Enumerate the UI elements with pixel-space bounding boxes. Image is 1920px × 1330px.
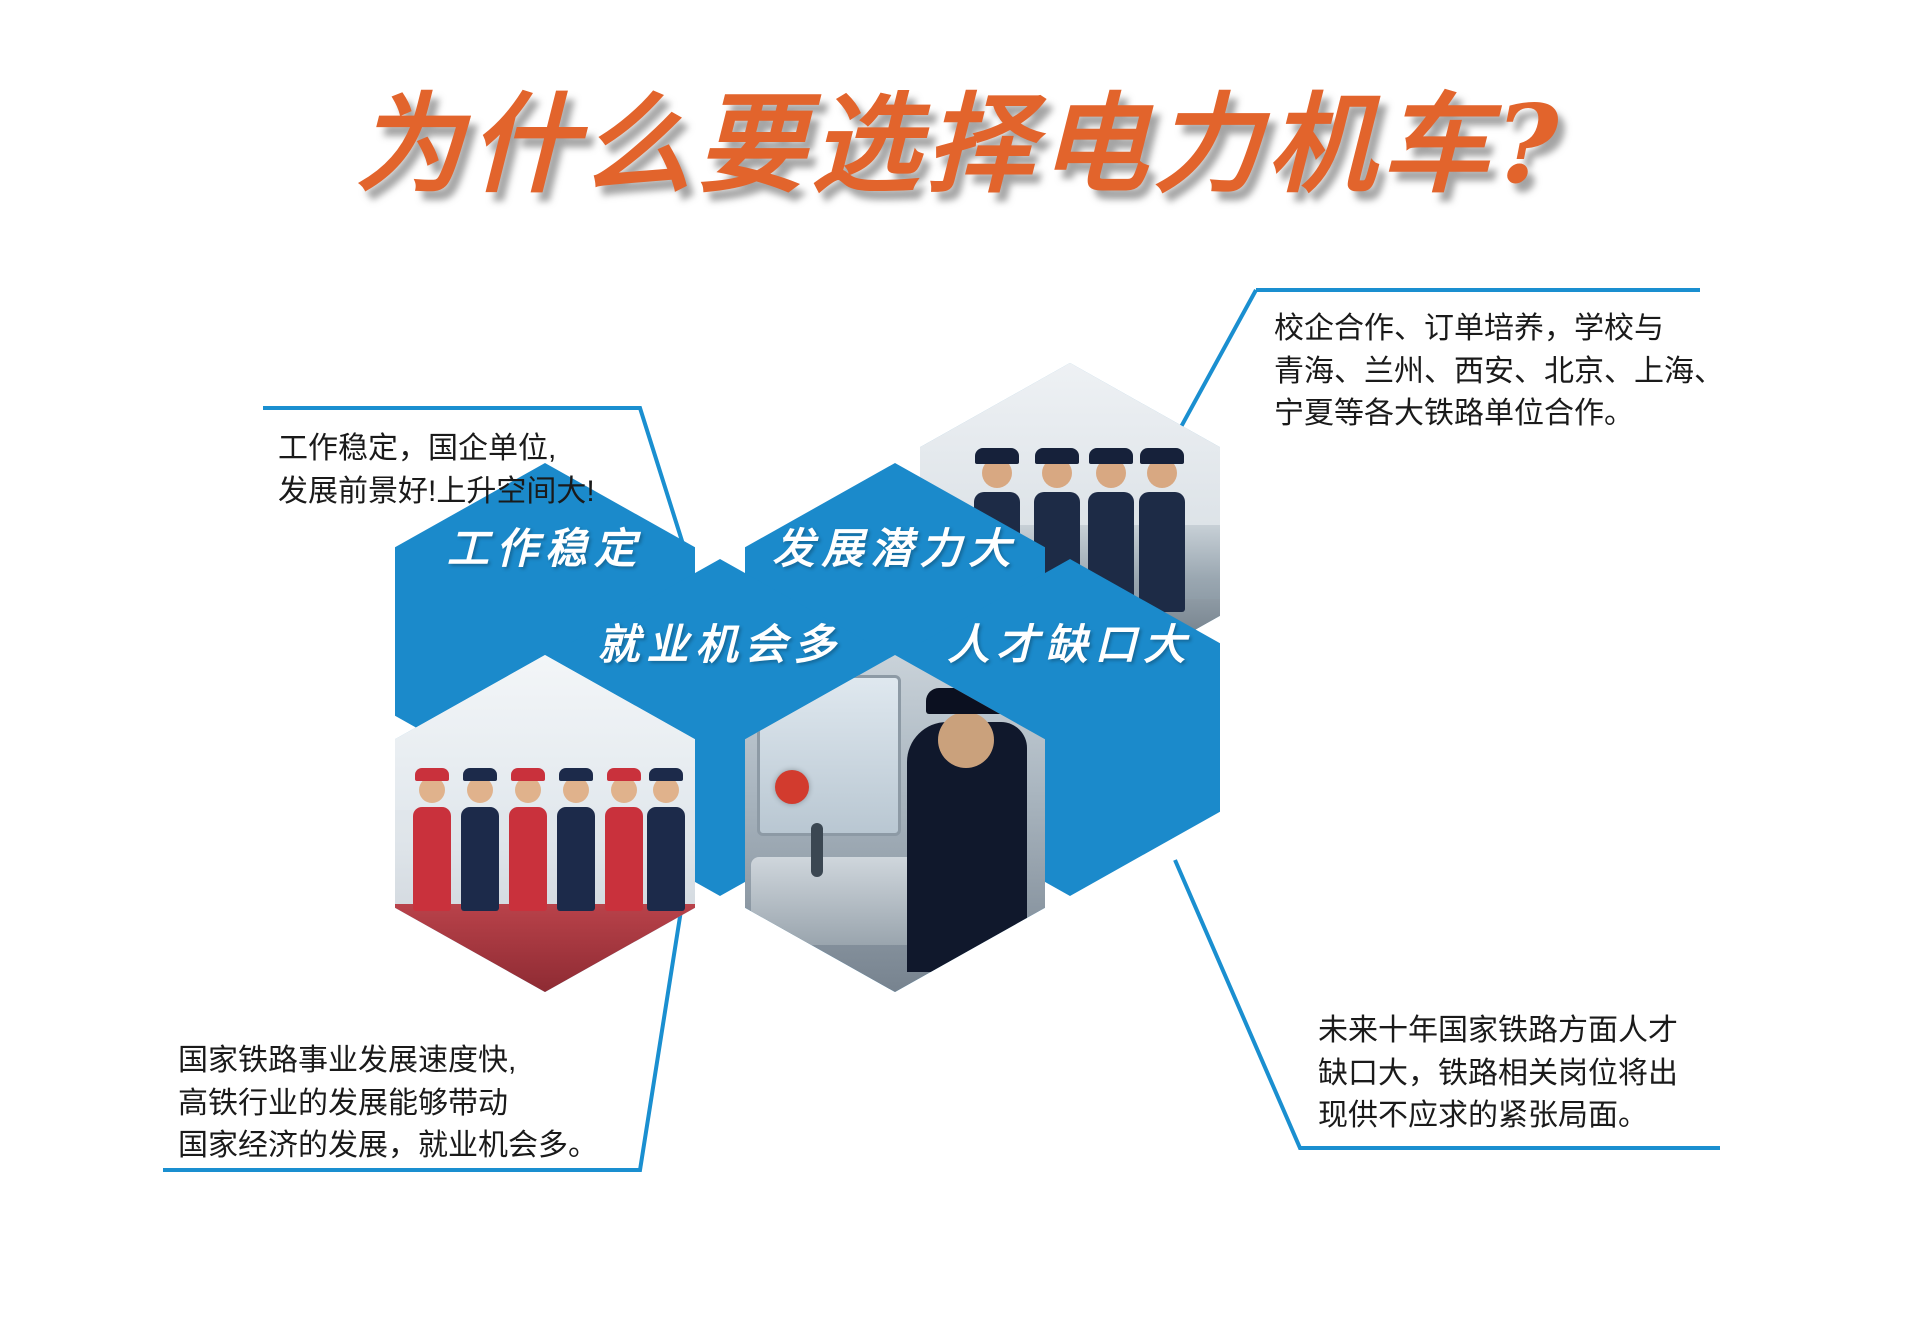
callout-line: 发展前景好!上升空间大! <box>278 471 595 514</box>
callout-school-enterprise-cooperation: 校企合作、订单培养，学校与 青海、兰州、西安、北京、上海、 宁夏等各大铁路单位合… <box>1274 308 1724 436</box>
callout-line: 青海、兰州、西安、北京、上海、 <box>1274 351 1724 394</box>
callout-line: 高铁行业的发展能够带动 <box>178 1083 598 1126</box>
callout-job-opportunities: 国家铁路事业发展速度快, 高铁行业的发展能够带动 国家经济的发展，就业机会多。 <box>178 1040 598 1168</box>
page-title: 为什么要选择电力机车? <box>0 86 1920 205</box>
callout-line: 未来十年国家铁路方面人才 <box>1318 1010 1678 1053</box>
callout-talent-gap: 未来十年国家铁路方面人才 缺口大，铁路相关岗位将出 现供不应求的紧张局面。 <box>1318 1010 1678 1138</box>
hexagon-label-work-stability: 工作稳定 <box>395 515 695 576</box>
callout-line: 校企合作、订单培养，学校与 <box>1274 308 1724 351</box>
callout-line: 现供不应求的紧张局面。 <box>1318 1095 1678 1138</box>
hexagon-label-job-opportunities: 就业机会多 <box>570 611 870 672</box>
hexagon-label-talent-gap: 人才缺口大 <box>920 611 1220 672</box>
callout-line: 缺口大，铁路相关岗位将出 <box>1318 1053 1678 1096</box>
callout-line: 国家铁路事业发展速度快, <box>178 1040 598 1083</box>
infographic-canvas: 为什么要选择电力机车? 工作稳定 发展潜力大 <box>0 0 1920 1330</box>
hexagon-label-development-potential: 发展潜力大 <box>745 515 1045 576</box>
callout-line: 国家经济的发展，就业机会多。 <box>178 1125 598 1168</box>
callout-line: 工作稳定，国企单位, <box>278 428 595 471</box>
callout-line: 宁夏等各大铁路单位合作。 <box>1274 393 1724 436</box>
callout-work-stability: 工作稳定，国企单位, 发展前景好!上升空间大! <box>278 428 595 513</box>
